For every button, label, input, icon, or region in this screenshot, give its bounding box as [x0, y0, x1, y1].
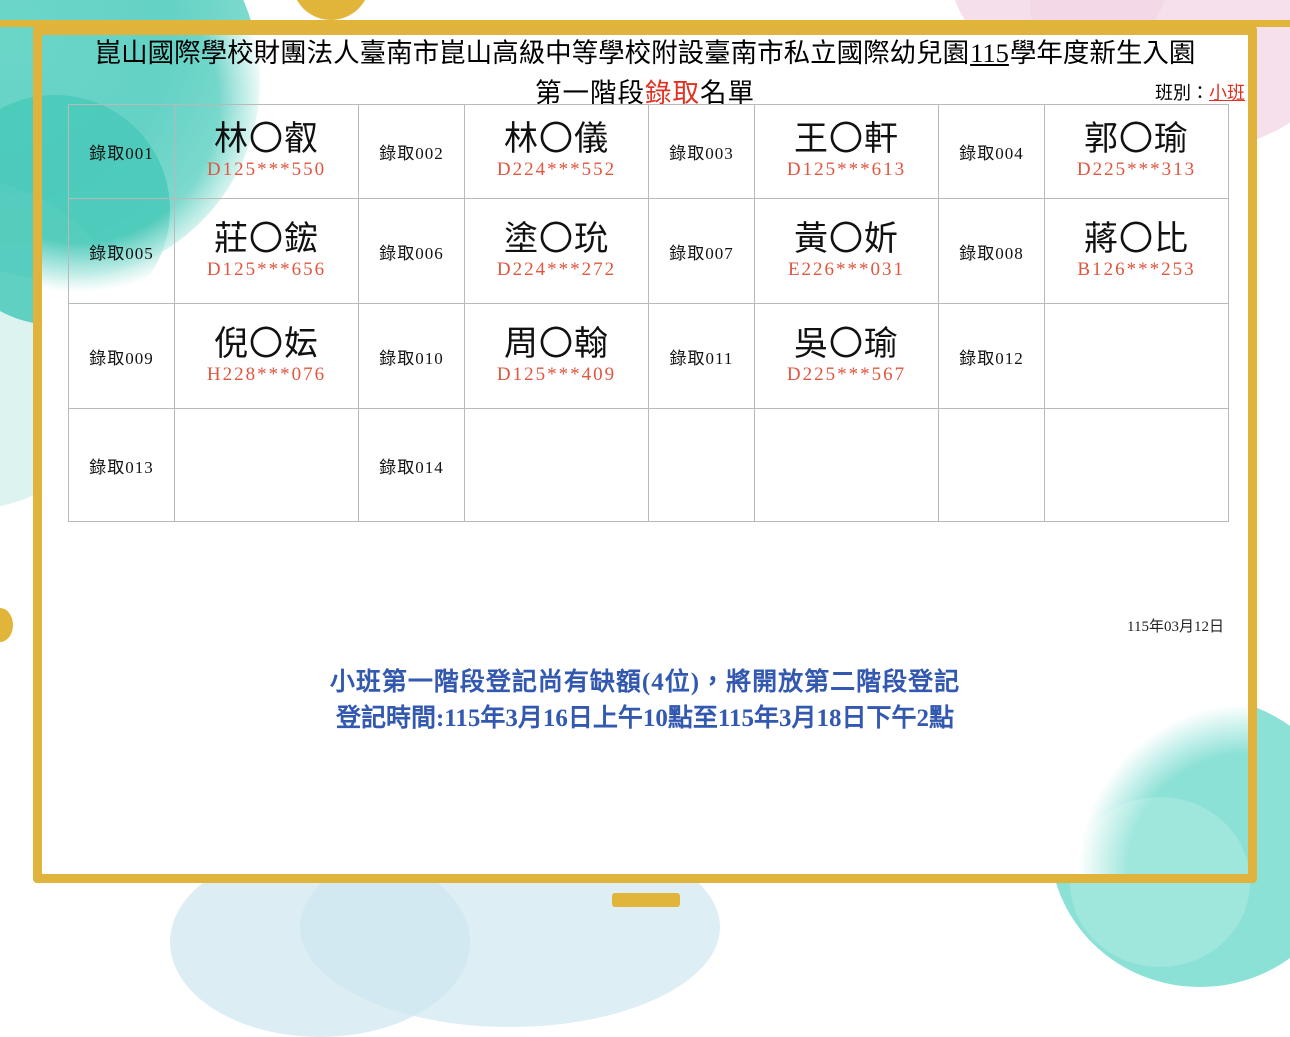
table-row: 錄取005 莊〇鋐 D125***656 錄取006 塗〇玧 D224***27… [69, 199, 1229, 304]
student-cell-empty [465, 409, 649, 522]
seat-number-cell: 錄取007 [649, 199, 755, 304]
student-name: 倪〇妘 [175, 327, 358, 365]
seat-number: 錄取013 [89, 458, 154, 477]
decorative-gold-stand-bottom [612, 893, 680, 907]
student-cell-empty [1045, 409, 1229, 522]
seat-number: 錄取004 [959, 144, 1024, 163]
seat-number: 錄取012 [959, 349, 1024, 368]
admitted-students-table: 錄取001 林〇叡 D125***550 錄取002 林〇儀 D224***55… [68, 104, 1229, 522]
seat-number-cell: 錄取012 [939, 304, 1045, 409]
seat-number-cell-empty [939, 409, 1045, 522]
notice-line-1: 小班第一階段登記尚有缺額(4位)，將開放第二階段登記 [42, 665, 1248, 701]
seat-number-cell: 錄取013 [69, 409, 175, 522]
seat-number-cell: 錄取004 [939, 105, 1045, 199]
seat-number: 錄取003 [669, 144, 734, 163]
student-name: 蔣〇比 [1045, 222, 1228, 260]
class-label-text: 班別： [1155, 83, 1209, 103]
student-id-code: D125***409 [465, 365, 648, 386]
student-cell: 林〇叡 D125***550 [175, 105, 359, 199]
decorative-gold-tab-left [0, 608, 13, 642]
student-name: 塗〇玧 [465, 222, 648, 260]
student-name: 林〇儀 [465, 122, 648, 160]
table-row: 錄取009 倪〇妘 H228***076 錄取010 周〇翰 D125***40… [69, 304, 1229, 409]
announcement-sheet: 崑山國際學校財團法人臺南市崑山高級中等學校附設臺南市私立國際幼兒園115學年度新… [42, 35, 1248, 874]
table-row: 錄取013 錄取014 [69, 409, 1229, 522]
student-cell-empty [175, 409, 359, 522]
student-cell: 倪〇妘 H228***076 [175, 304, 359, 409]
title-block: 崑山國際學校財團法人臺南市崑山高級中等學校附設臺南市私立國際幼兒園115學年度新… [42, 35, 1248, 107]
seat-number-cell: 錄取005 [69, 199, 175, 304]
seat-number: 錄取008 [959, 244, 1024, 263]
student-cell: 莊〇鋐 D125***656 [175, 199, 359, 304]
student-id-code: D125***613 [755, 160, 938, 181]
student-name: 郭〇瑜 [1045, 122, 1228, 160]
student-cell: 王〇軒 D125***613 [755, 105, 939, 199]
student-id-code: D225***313 [1045, 160, 1228, 181]
student-id-code: D125***550 [175, 160, 358, 181]
student-name: 吳〇瑜 [755, 327, 938, 365]
seat-number: 錄取006 [379, 244, 444, 263]
seat-number: 錄取014 [379, 458, 444, 477]
seat-number: 錄取009 [89, 349, 154, 368]
student-name: 王〇軒 [755, 122, 938, 160]
seat-number: 錄取001 [89, 144, 154, 163]
student-name: 莊〇鋐 [175, 222, 358, 260]
student-cell: 郭〇瑜 D225***313 [1045, 105, 1229, 199]
seat-number: 錄取005 [89, 244, 154, 263]
student-name: 林〇叡 [175, 122, 358, 160]
issue-date: 115年03月12日 [1127, 615, 1224, 636]
seat-number-cell: 錄取009 [69, 304, 175, 409]
student-id-code: D125***656 [175, 260, 358, 281]
student-cell: 吳〇瑜 D225***567 [755, 304, 939, 409]
seat-number-cell-empty [649, 409, 755, 522]
seat-number-cell: 錄取008 [939, 199, 1045, 304]
notice-block: 小班第一階段登記尚有缺額(4位)，將開放第二階段登記 登記時間:115年3月16… [42, 665, 1248, 736]
seat-number: 錄取007 [669, 244, 734, 263]
student-id-code: D224***272 [465, 260, 648, 281]
student-name: 黃〇妡 [755, 222, 938, 260]
page-title-academic-year: 115 [969, 38, 1010, 68]
page-title-suffix: 學年度新生入園 [1010, 38, 1196, 68]
student-id-code [1045, 365, 1228, 386]
decorative-gold-circle-top [292, 0, 370, 20]
student-id-code: B126***253 [1045, 260, 1228, 281]
student-cell: 林〇儀 D224***552 [465, 105, 649, 199]
seat-number-cell: 錄取006 [359, 199, 465, 304]
page-title-school-name: 崑山國際學校財團法人臺南市崑山高級中等學校附設臺南市私立國際幼兒園 [95, 38, 970, 68]
student-name: 周〇翰 [465, 327, 648, 365]
student-cell-empty [1045, 304, 1229, 409]
seat-number-cell: 錄取010 [359, 304, 465, 409]
student-name [1045, 327, 1228, 365]
student-cell-empty [755, 409, 939, 522]
seat-number: 錄取010 [379, 349, 444, 368]
student-id-code: D224***552 [465, 160, 648, 181]
student-id-code: D225***567 [755, 365, 938, 386]
seat-number-cell: 錄取002 [359, 105, 465, 199]
student-cell: 蔣〇比 B126***253 [1045, 199, 1229, 304]
seat-number-cell: 錄取003 [649, 105, 755, 199]
table-row: 錄取001 林〇叡 D125***550 錄取002 林〇儀 D224***55… [69, 105, 1229, 199]
class-value: 小班 [1209, 83, 1245, 103]
seat-number-cell: 錄取001 [69, 105, 175, 199]
student-cell: 周〇翰 D125***409 [465, 304, 649, 409]
student-id-code: E226***031 [755, 260, 938, 281]
seat-number: 錄取011 [670, 349, 734, 368]
seat-number-cell: 錄取014 [359, 409, 465, 522]
student-cell: 塗〇玧 D224***272 [465, 199, 649, 304]
seat-number: 錄取002 [379, 144, 444, 163]
student-id-code: H228***076 [175, 365, 358, 386]
notice-line-2: 登記時間:115年3月16日上午10點至115年3月18日下午2點 [42, 701, 1248, 737]
title-line-2-row: 第一階段錄取名單 班別：小班 [42, 71, 1248, 107]
student-cell: 黃〇妡 E226***031 [755, 199, 939, 304]
seat-number-cell: 錄取011 [649, 304, 755, 409]
page-title-line-1: 崑山國際學校財團法人臺南市崑山高級中等學校附設臺南市私立國際幼兒園115學年度新… [42, 38, 1248, 69]
class-label: 班別：小班 [1155, 79, 1245, 105]
